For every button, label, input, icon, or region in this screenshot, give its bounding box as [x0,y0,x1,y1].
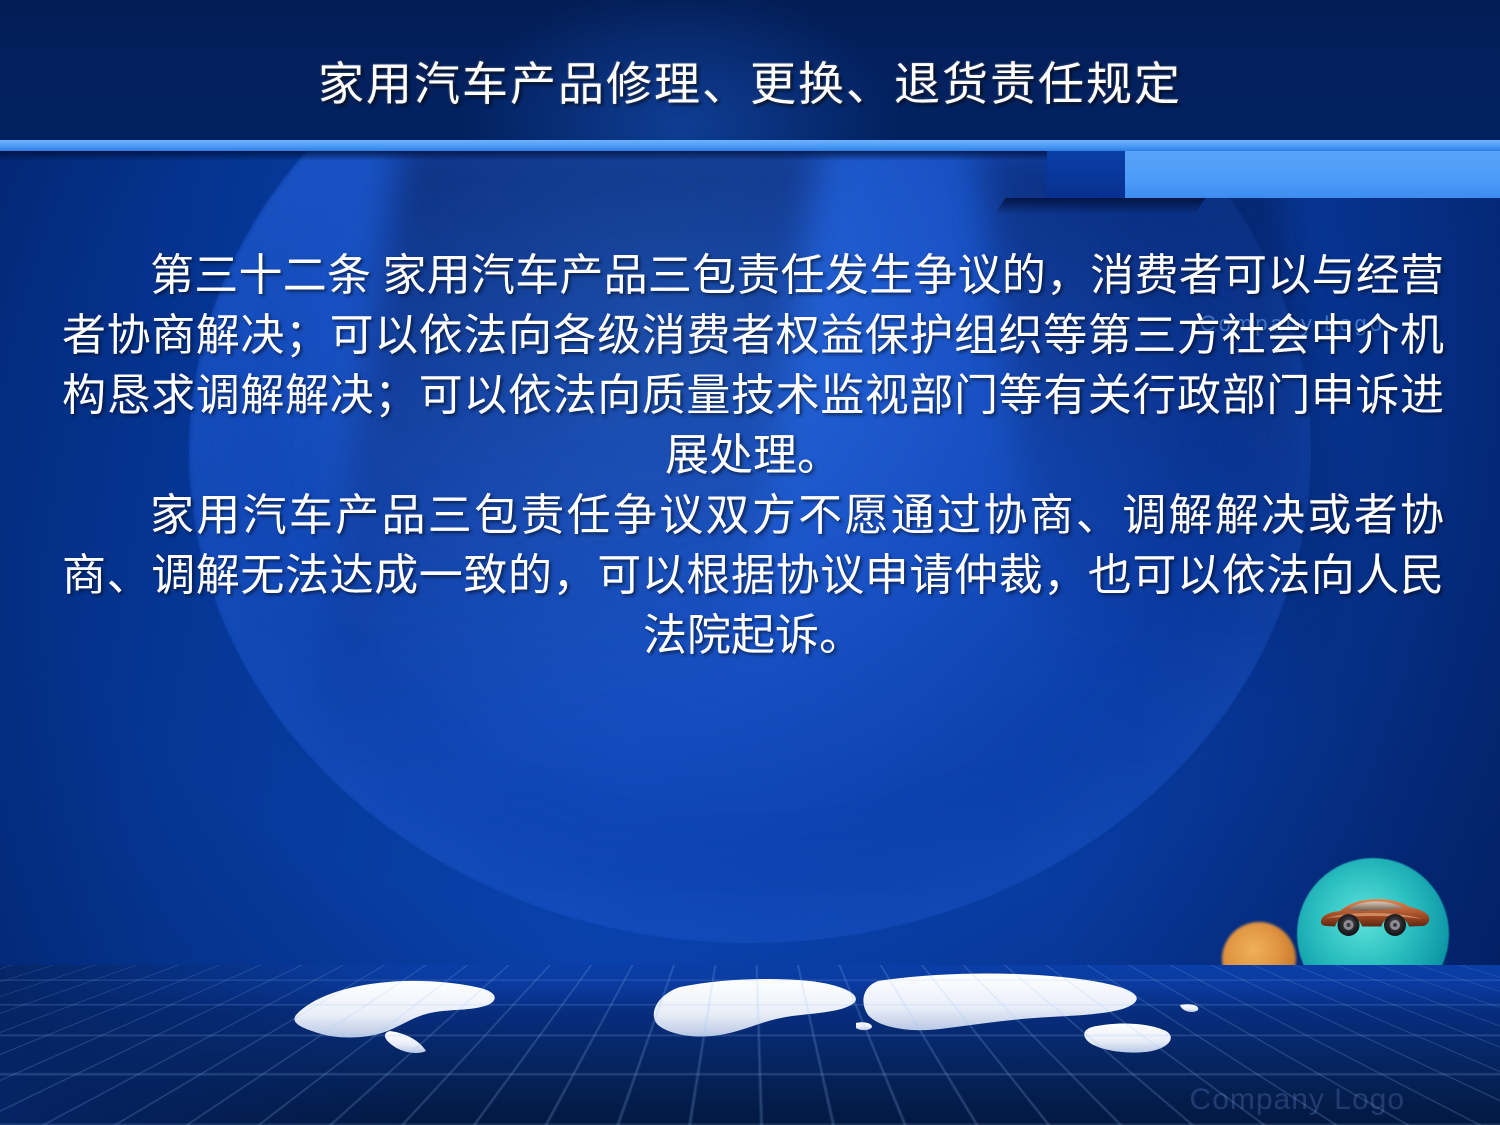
body-paragraph-2: 家用汽车产品三包责任争议双方不愿通过协商、调解解决或者协商、调解无法达成一致的，… [62,486,1444,666]
corner-accent-slab: Company Logo [1125,151,1500,198]
slide-title: 家用汽车产品修理、更换、退货责任规定 [0,62,1500,108]
body-paragraph-1: 第三十二条 家用汽车产品三包责任发生争议的，消费者可以与经营者协商解决；可以依法… [62,246,1444,486]
header-divider-rule [0,140,1500,151]
footer-watermark-text: Company Logo [1190,1083,1405,1117]
corner-slab-notch [1047,151,1125,198]
world-map-graphic [250,957,1250,1067]
slide-body-text: 第三十二条 家用汽车产品三包责任发生争议的，消费者可以与经营者协商解决；可以依法… [62,246,1444,666]
corner-slab-shadow [995,198,1206,214]
presentation-slide: 家用汽车产品修理、更换、退货责任规定 Company Logo 第三十二条 家用… [0,0,1500,1125]
sports-car-icon [1316,890,1432,938]
